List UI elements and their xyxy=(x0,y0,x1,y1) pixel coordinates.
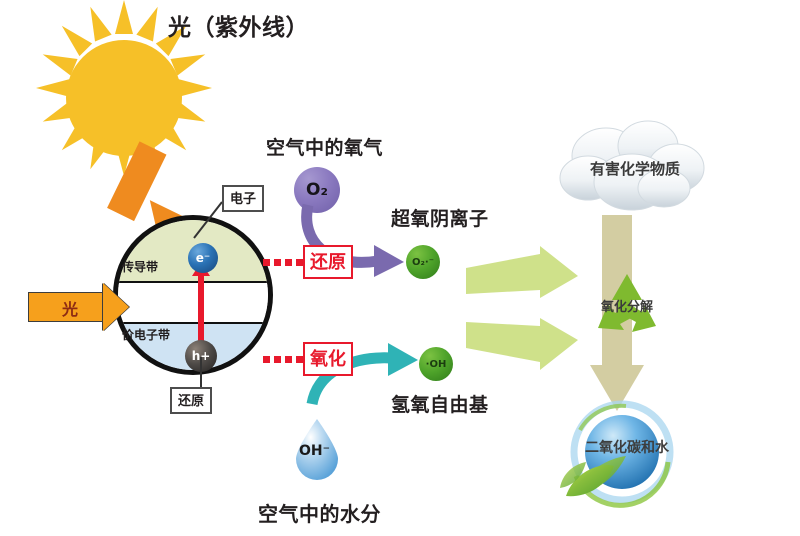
valence-band-label: 价电子带 xyxy=(122,326,170,343)
sun-ray xyxy=(82,3,112,41)
water-symbol: OH⁻ xyxy=(299,443,330,459)
incident-light-label: 光 xyxy=(62,296,78,320)
reduction-box: 还原 xyxy=(303,245,353,279)
band-gap-region xyxy=(118,283,268,324)
oxidative-decomposition-label: 氧化分解 xyxy=(601,296,653,315)
air-moisture-label: 空气中的水分 xyxy=(258,498,381,527)
green-block-arrow-lower xyxy=(466,316,596,376)
green-block-arrow-upper xyxy=(466,248,596,308)
page-title-light-uv: 光（紫外线） xyxy=(168,8,309,42)
hydroxyl-symbol: ·OH xyxy=(426,359,447,370)
sun-ray xyxy=(39,46,77,76)
sun-ray xyxy=(178,79,212,97)
sun-ray xyxy=(115,0,133,34)
air-oxygen-label: 空气中的氧气 xyxy=(266,133,383,160)
superoxide-molecule: O₂·⁻ xyxy=(406,245,440,279)
final-products-label: 二氧化碳和水 xyxy=(585,437,669,457)
incident-light-arrow-head xyxy=(103,283,129,331)
sun-ray xyxy=(55,19,92,56)
pollutant-cloud-label: 有害化学物质 xyxy=(590,158,680,179)
superoxide-symbol: O₂·⁻ xyxy=(412,257,434,268)
excitation-arrow-shaft xyxy=(198,272,204,344)
electron-callout: 电子 xyxy=(222,185,264,212)
conduction-band-label: 传导带 xyxy=(122,258,158,275)
sun-ray xyxy=(170,100,208,130)
oxidation-box: 氧化 xyxy=(303,342,353,376)
superoxide-label: 超氧阴离子 xyxy=(391,204,489,231)
hydroxyl-label: 氢氧自由基 xyxy=(391,390,489,417)
eco-globe xyxy=(556,400,684,520)
bottom-reduction-callout: 还原 xyxy=(170,387,212,414)
hydroxyl-molecule: ·OH xyxy=(419,347,453,381)
photocatalysis-diagram: 光（紫外线） 空气中的氧气 O₂ 传导带 价电子带 e⁻ h+ 电子 还原 光 xyxy=(0,0,800,536)
sun-ray xyxy=(170,46,208,76)
sun-ray xyxy=(36,79,70,97)
